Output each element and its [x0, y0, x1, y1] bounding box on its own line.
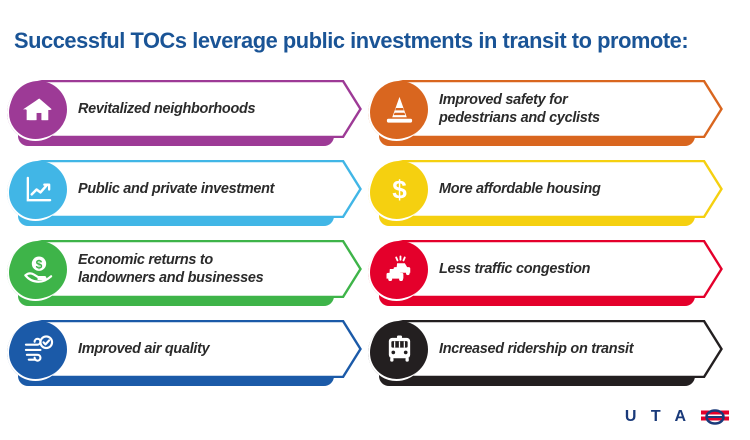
svg-text:$: $	[36, 257, 43, 271]
benefit-label: More affordable housing	[439, 160, 677, 218]
benefit-item-increased-ridership[interactable]: Increased ridership on transit	[371, 320, 723, 386]
benefit-item-revitalized-neighborhoods[interactable]: Revitalized neighborhoods	[10, 80, 362, 146]
benefit-label: Economic returns tolandowners and busine…	[78, 240, 316, 298]
benefit-item-public-private-investment[interactable]: Public and private investment	[10, 160, 362, 226]
benefit-label-line: pedestrians and cyclists	[439, 109, 600, 127]
benefit-item-economic-returns[interactable]: $Economic returns tolandowners and busin…	[10, 240, 362, 306]
benefit-item-less-traffic-congestion[interactable]: Less traffic congestion	[371, 240, 723, 306]
benefit-label: Improved safety forpedestrians and cycli…	[439, 80, 677, 138]
page-title: Successful TOCs leverage public investme…	[14, 28, 688, 54]
house-icon	[10, 81, 67, 138]
hand-with-coin-icon: $	[10, 241, 67, 298]
benefit-item-improved-safety[interactable]: Improved safety forpedestrians and cycli…	[371, 80, 723, 146]
benefit-label: Improved air quality	[78, 320, 316, 378]
uta-logo: U T A	[625, 406, 732, 428]
benefit-label-line: Public and private investment	[78, 180, 274, 198]
bus-icon	[371, 321, 428, 378]
uta-emblem-icon	[698, 406, 732, 428]
benefit-label-line: Increased ridership on transit	[439, 340, 633, 358]
benefit-label-line: More affordable housing	[439, 180, 601, 198]
benefit-label-line: Improved safety for	[439, 91, 600, 109]
air-quality-icon	[10, 321, 67, 378]
benefit-label-line: Improved air quality	[78, 340, 209, 358]
benefit-item-affordable-housing[interactable]: $More affordable housing	[371, 160, 723, 226]
benefit-item-improved-air-quality[interactable]: Improved air quality	[10, 320, 362, 386]
dollar-coin-icon: $	[371, 161, 428, 218]
benefit-label: Less traffic congestion	[439, 240, 677, 298]
svg-text:$: $	[392, 175, 407, 205]
benefit-label: Revitalized neighborhoods	[78, 80, 316, 138]
line-chart-icon	[10, 161, 67, 218]
benefit-label-line: landowners and businesses	[78, 269, 263, 287]
traffic-cars-icon	[371, 241, 428, 298]
traffic-cone-icon	[371, 81, 428, 138]
benefits-list: Revitalized neighborhoodsImproved safety…	[0, 78, 750, 398]
benefit-label-line: Economic returns to	[78, 251, 263, 269]
benefit-label-line: Revitalized neighborhoods	[78, 100, 255, 118]
uta-wordmark: U T A	[625, 408, 691, 426]
benefit-label-line: Less traffic congestion	[439, 260, 590, 278]
benefit-label: Public and private investment	[78, 160, 316, 218]
benefit-label: Increased ridership on transit	[439, 320, 677, 378]
